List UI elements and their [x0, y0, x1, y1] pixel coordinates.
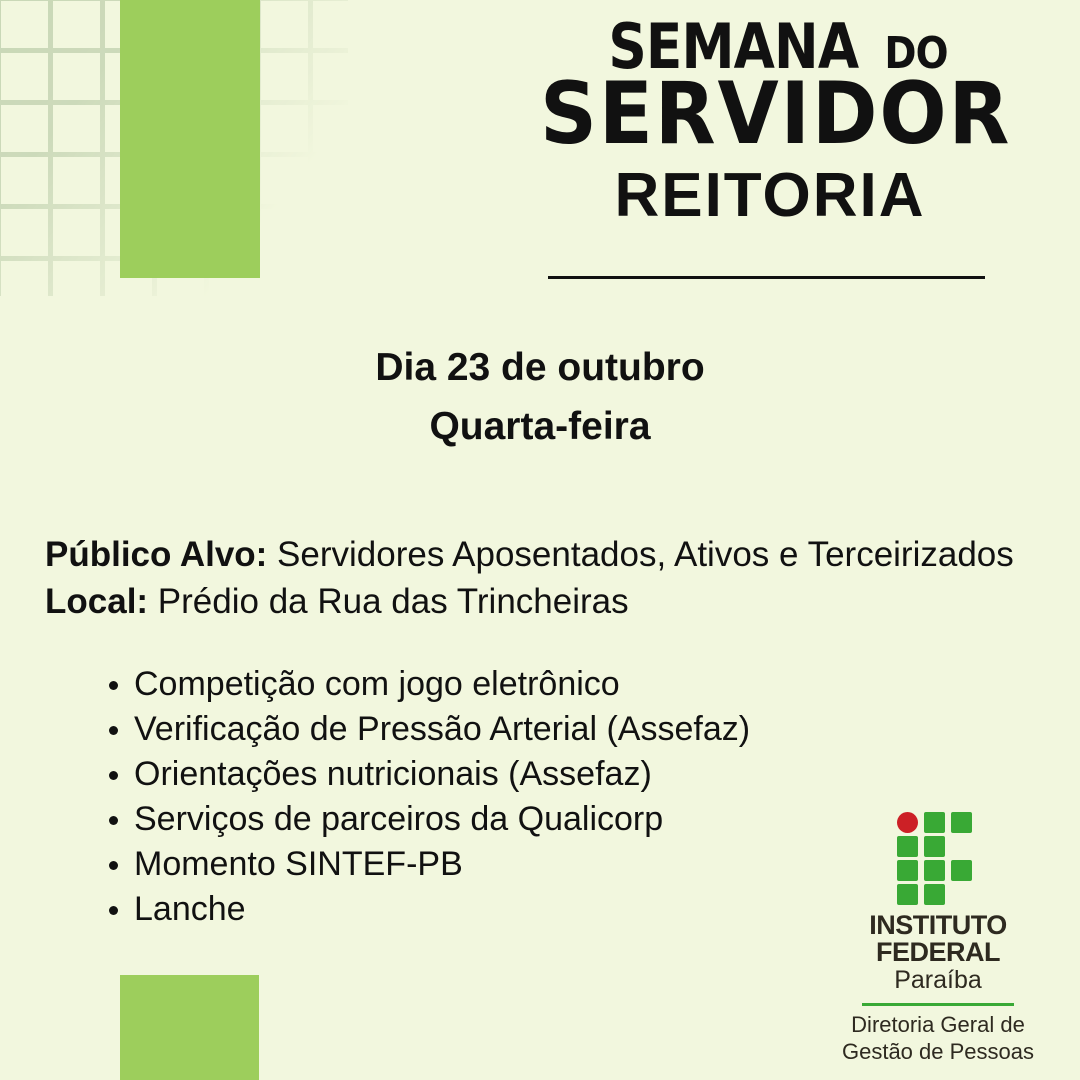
- location-line: Local: Prédio da Rua das Trincheiras: [45, 579, 1065, 626]
- logo-state-name: Paraíba: [838, 966, 1038, 996]
- title-word-servidor: SERVIDOR: [540, 71, 1000, 159]
- location-value: Prédio da Rua das Trincheiras: [148, 582, 629, 621]
- logo-square: [924, 860, 945, 881]
- event-date-weekday: Quarta-feira: [0, 397, 1080, 456]
- list-item: Orientações nutricionais (Assefaz): [134, 752, 894, 797]
- audience-line: Público Alvo: Servidores Aposentados, At…: [45, 532, 1065, 579]
- list-item: Momento SINTEF-PB: [134, 842, 894, 887]
- title-word-reitoria: REITORIA: [520, 163, 1020, 228]
- location-label: Local:: [45, 582, 148, 621]
- decorative-green-rectangle-top: [120, 0, 260, 278]
- list-item: Serviços de parceiros da Qualicorp: [134, 797, 894, 842]
- logo-square: [924, 836, 945, 857]
- logo-department-line-two: Gestão de Pessoas: [838, 1039, 1038, 1066]
- ifpb-logo: INSTITUTO FEDERAL Paraíba Diretoria Gera…: [838, 812, 1038, 1066]
- logo-square: [897, 884, 918, 905]
- ifpb-logo-mark-icon: [897, 812, 979, 904]
- decorative-green-rectangle-bottom: [120, 975, 259, 1080]
- audience-label: Público Alvo:: [45, 535, 267, 574]
- poster-header: SEMANADO SERVIDOR REITORIA: [520, 18, 1020, 228]
- event-date-block: Dia 23 de outubro Quarta-feira: [0, 338, 1080, 457]
- logo-square: [897, 836, 918, 857]
- list-item: Verificação de Pressão Arterial (Assefaz…: [134, 707, 894, 752]
- list-item: Competição com jogo eletrônico: [134, 662, 894, 707]
- logo-square: [951, 812, 972, 833]
- list-item: Lanche: [134, 887, 894, 932]
- title-underline-rule: [548, 276, 985, 279]
- logo-square: [897, 860, 918, 881]
- logo-divider-rule: [862, 1003, 1014, 1006]
- logo-department-line-one: Diretoria Geral de: [838, 1012, 1038, 1039]
- poster-canvas: SEMANADO SERVIDOR REITORIA Dia 23 de out…: [0, 0, 1080, 1080]
- logo-square: [951, 860, 972, 881]
- activities-list: Competição com jogo eletrônico Verificaç…: [100, 662, 894, 932]
- logo-square: [924, 812, 945, 833]
- logo-institute-line-two: FEDERAL: [838, 939, 1038, 966]
- logo-square: [924, 884, 945, 905]
- logo-dot-red: [897, 812, 918, 833]
- event-info-block: Público Alvo: Servidores Aposentados, At…: [45, 532, 1065, 625]
- logo-institute-line-one: INSTITUTO: [838, 912, 1038, 939]
- audience-value: Servidores Aposentados, Ativos e Terceir…: [267, 535, 1013, 574]
- event-date-day: Dia 23 de outubro: [0, 338, 1080, 397]
